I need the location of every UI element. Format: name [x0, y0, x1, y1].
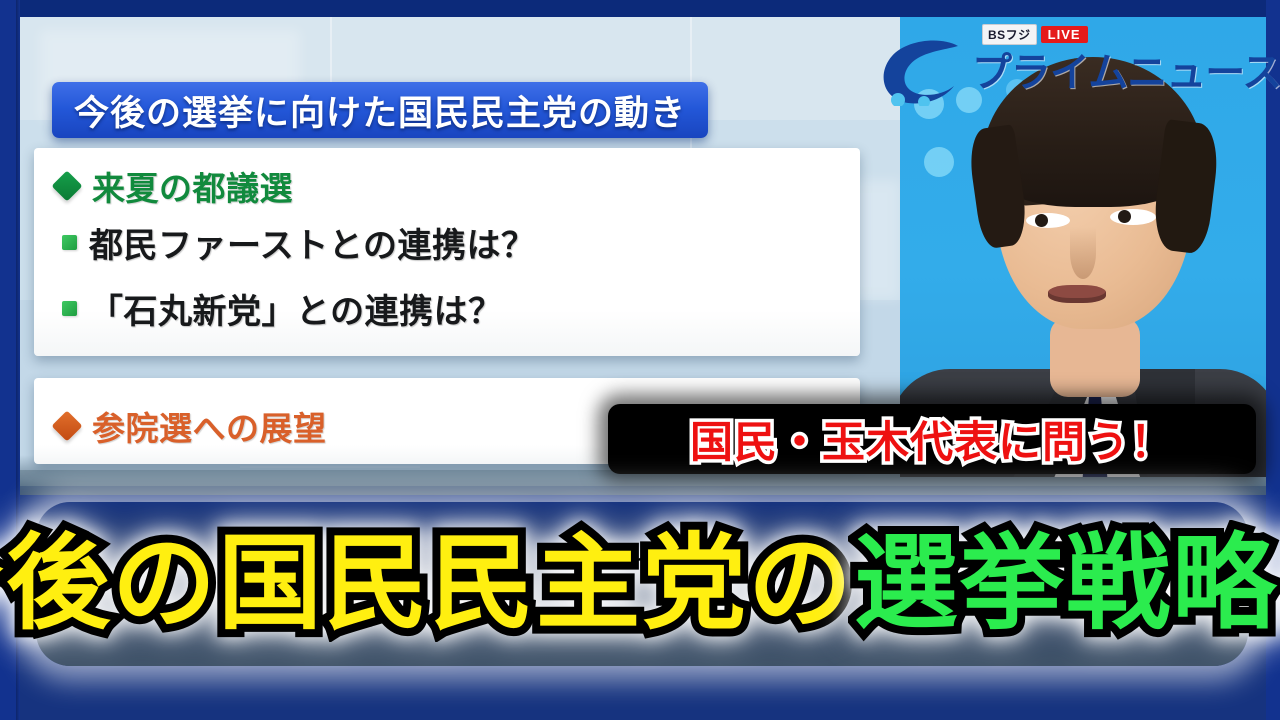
diamond-orange-icon — [51, 410, 82, 441]
diamond-green-icon — [51, 170, 82, 201]
question-caption: 国民・玉木代表に問う！ — [608, 404, 1256, 474]
lower-third-banner: 今後の国民民主党の選挙戦略は — [36, 502, 1248, 666]
nose — [1070, 227, 1096, 279]
bullet-label: 都民ファーストとの連携は？ — [89, 218, 535, 267]
pupil — [1118, 210, 1131, 223]
section-heading-row: 参院選への展望 — [56, 402, 327, 450]
mouth — [1048, 285, 1106, 303]
square-green-icon — [62, 301, 77, 316]
square-green-icon — [62, 235, 77, 250]
question-caption-text: 国民・玉木代表に問う！ — [690, 408, 1174, 470]
lower-third-text-part1: 今後の国民民主党の — [0, 532, 854, 636]
neck — [1050, 317, 1140, 397]
headline-text: 今後の選挙に向けた国民民主党の動き — [74, 85, 686, 136]
frame-top-bar — [0, 0, 1280, 17]
eye — [1026, 213, 1070, 228]
bullet-row: 「石丸新党」との連携は？ — [62, 284, 503, 333]
swoosh-icon — [880, 40, 966, 106]
program-logo: BSフジ LIVE プライムニュース — [880, 18, 1266, 110]
headline-banner: 今後の選挙に向けた国民民主党の動き — [52, 82, 708, 138]
broadcast-screen: BSフジ LIVE プライムニュース 今後の選挙に向けた国民民主党の動き 来夏の… — [0, 0, 1280, 720]
section-heading-label: 参院選への展望 — [92, 402, 327, 450]
section-heading-label: 来夏の都議選 — [92, 162, 293, 210]
bullet-label: 「石丸新党」との連携は？ — [89, 284, 503, 333]
pupil — [1035, 214, 1048, 227]
topic-panel-primary: 来夏の都議選 都民ファーストとの連携は？ 「石丸新党」との連携は？ — [34, 148, 860, 356]
section-heading-row: 来夏の都議選 — [56, 162, 293, 210]
eye — [1110, 209, 1156, 225]
bullet-row: 都民ファーストとの連携は？ — [62, 218, 535, 267]
program-title: プライムニュース — [972, 40, 1280, 98]
lower-third-text-part2: 選挙戦略は — [854, 532, 1280, 636]
